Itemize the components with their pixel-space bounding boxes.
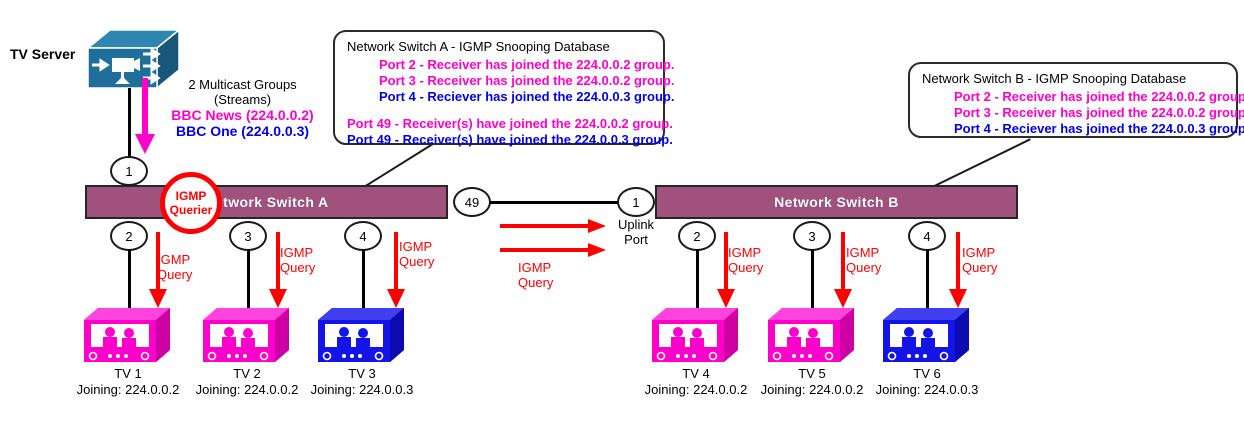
trunk-igmp-query-label: IGMP Query xyxy=(518,260,553,290)
tv-icon-tv5 xyxy=(766,306,858,368)
igmp-querier-badge: IGMP Querier xyxy=(160,172,222,234)
tv-icon-tv3 xyxy=(316,306,408,368)
switch-b-port-1-number: 1 xyxy=(632,195,639,210)
igmp-query-label-tv5: IGMP Query xyxy=(846,245,881,275)
multicast-note-line2: (Streams) xyxy=(155,92,330,107)
igmp-query-tv5-line2: Query xyxy=(846,260,881,275)
server-to-port1-cable xyxy=(128,88,131,160)
callout-switch-b-database: Network Switch B - IGMP Snooping Databas… xyxy=(908,62,1238,138)
switch-b-port-3-number: 3 xyxy=(808,229,815,244)
callout-a-row-5: Port 49 - Receiver(s) have joined the 22… xyxy=(347,132,651,148)
tv-icon-tv1 xyxy=(82,306,174,368)
callout-b-title: Network Switch B - IGMP Snooping Databas… xyxy=(922,71,1224,86)
igmp-query-tv2-line2: Query xyxy=(280,260,315,275)
switch-b-port-4-number: 4 xyxy=(923,229,930,244)
switch-a-port-2-number: 2 xyxy=(125,229,132,244)
switch-b-port-2[interactable]: 2 xyxy=(678,221,716,251)
callout-b-row-0: Port 2 - Receiver has joined the 224.0.0… xyxy=(922,89,1224,105)
switch-a-port-4-cable xyxy=(362,249,365,311)
switch-a-port-3-cable xyxy=(247,249,250,311)
tv3-caption: TV 3 Joining: 224.0.0.3 xyxy=(277,366,447,398)
tv3-name: TV 3 xyxy=(277,366,447,382)
switch-b-port-3-cable xyxy=(811,249,814,311)
switch-a-port-2[interactable]: 2 xyxy=(110,221,148,251)
tv-icon-tv2 xyxy=(201,306,293,368)
callout-a-title: Network Switch A - IGMP Snooping Databas… xyxy=(347,39,651,54)
network-switch-a[interactable]: Network Switch A xyxy=(85,185,448,219)
igmp-query-label-tv4: IGMP Query xyxy=(728,245,763,275)
igmp-query-tv2-line1: IGMP xyxy=(280,245,315,260)
switch-b-port-1-uplink[interactable]: 1 xyxy=(617,187,655,217)
igmp-query-tv6-line2: Query xyxy=(962,260,997,275)
igmp-query-tv1-line1: IGMP xyxy=(157,252,192,267)
tv6-joining: Joining: 224.0.0.3 xyxy=(842,382,1012,398)
tv-icon-tv4 xyxy=(650,306,742,368)
callout-a-row-4: Port 49 - Receiver(s) have joined the 22… xyxy=(347,116,651,132)
switch-a-port-49-number: 49 xyxy=(465,195,479,210)
igmp-snooping-diagram: TV Server 2 Multica xyxy=(0,0,1244,439)
switch-a-port-4[interactable]: 4 xyxy=(344,221,382,251)
igmp-query-label-tv3: IGMP Query xyxy=(399,239,434,269)
igmp-query-tv1-line2: Query xyxy=(157,267,192,282)
igmp-querier-line1: IGMP xyxy=(176,189,207,203)
switch-a-port-3[interactable]: 3 xyxy=(229,221,267,251)
multicast-group-bbc-news: BBC News (224.0.0.2) xyxy=(155,107,330,123)
switch-a-port-1-number: 1 xyxy=(125,164,132,179)
uplink-port-line2: Port xyxy=(606,232,666,247)
callout-a-row-2: Port 4 - Reciever has joined the 224.0.0… xyxy=(347,89,651,105)
tv6-name: TV 6 xyxy=(842,366,1012,382)
switch-b-port-4[interactable]: 4 xyxy=(908,221,946,251)
multicast-note-line1: 2 Multicast Groups xyxy=(155,77,330,92)
igmp-query-tv4-line2: Query xyxy=(728,260,763,275)
multicast-groups-note: 2 Multicast Groups (Streams) BBC News (2… xyxy=(155,77,330,139)
igmp-query-label-tv2: IGMP Query xyxy=(280,245,315,275)
switch-a-port-4-number: 4 xyxy=(359,229,366,244)
igmp-querier-line2: Querier xyxy=(170,203,213,217)
switch-a-port-3-number: 3 xyxy=(244,229,251,244)
igmp-query-label-tv6: IGMP Query xyxy=(962,245,997,275)
igmp-query-tv3-line1: IGMP xyxy=(399,239,434,254)
callout-b-row-2: Port 4 - Reciever has joined the 224.0.0… xyxy=(922,121,1224,137)
network-switch-b[interactable]: Network Switch B xyxy=(655,185,1018,219)
inter-switch-trunk-cable xyxy=(490,201,620,204)
switch-a-port-2-cable xyxy=(128,249,131,311)
callout-a-spacer xyxy=(347,105,651,116)
igmp-query-tv3-line2: Query xyxy=(399,254,434,269)
igmp-query-tv6-line1: IGMP xyxy=(962,245,997,260)
tv-server-label: TV Server xyxy=(10,46,75,62)
igmp-query-tv5-line1: IGMP xyxy=(846,245,881,260)
trunk-igmp-query-line2: Query xyxy=(518,275,553,290)
callout-b-row-1: Port 3 - Receiver has joined the 224.0.0… xyxy=(922,105,1224,121)
callout-a-row-1: Port 3 - Receiver has joined the 224.0.0… xyxy=(347,73,651,89)
switch-b-port-3[interactable]: 3 xyxy=(793,221,831,251)
network-switch-b-label: Network Switch B xyxy=(774,194,899,210)
switch-b-port-2-number: 2 xyxy=(693,229,700,244)
tv-icon-tv6 xyxy=(881,306,973,368)
multicast-group-bbc-one: BBC One (224.0.0.3) xyxy=(155,123,330,139)
switch-b-port-2-cable xyxy=(696,249,699,311)
network-switch-a-label: Network Switch A xyxy=(204,194,328,210)
uplink-port-label: Uplink Port xyxy=(606,217,666,247)
switch-b-port-4-cable xyxy=(926,249,929,311)
tv6-caption: TV 6 Joining: 224.0.0.3 xyxy=(842,366,1012,398)
switch-a-port-49[interactable]: 49 xyxy=(453,187,491,217)
callout-a-row-0: Port 2 - Receiver has joined the 224.0.0… xyxy=(347,57,651,73)
uplink-port-line1: Uplink xyxy=(606,217,666,232)
tv3-joining: Joining: 224.0.0.3 xyxy=(277,382,447,398)
igmp-query-tv4-line1: IGMP xyxy=(728,245,763,260)
callout-switch-a-database: Network Switch A - IGMP Snooping Databas… xyxy=(333,30,665,145)
switch-a-port-1[interactable]: 1 xyxy=(110,156,148,186)
trunk-igmp-query-arrows xyxy=(500,218,610,268)
igmp-query-label-tv1: IGMP Query xyxy=(157,252,192,282)
trunk-igmp-query-line1: IGMP xyxy=(518,260,553,275)
